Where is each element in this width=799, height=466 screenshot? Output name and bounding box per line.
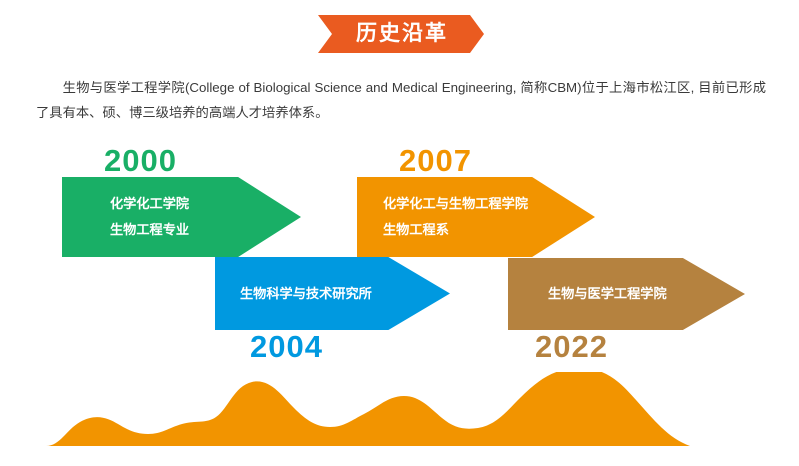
timeline-milestone-2022: 生物与医学工程学院 (508, 258, 745, 330)
milestone-line: 化学化工与生物工程学院 (383, 191, 528, 217)
milestone-line: 生物科学与技术研究所 (240, 281, 372, 307)
timeline-milestone-2007: 化学化工与生物工程学院 生物工程系 (357, 177, 595, 257)
milestone-line: 生物工程专业 (110, 217, 189, 243)
milestone-labels-2007: 化学化工与生物工程学院 生物工程系 (383, 177, 528, 257)
timeline-milestone-2004: 生物科学与技术研究所 (215, 257, 450, 330)
milestone-labels-2022: 生物与医学工程学院 (548, 258, 667, 330)
intro-paragraph: 生物与医学工程学院(College of Biological Science … (36, 75, 766, 125)
milestone-year-2007: 2007 (399, 144, 472, 178)
milestone-line: 化学化工学院 (110, 191, 189, 217)
milestone-year-2000: 2000 (104, 144, 177, 178)
milestone-line: 生物工程系 (383, 217, 528, 243)
milestone-line: 生物与医学工程学院 (548, 281, 667, 307)
decorative-wave (0, 372, 799, 452)
milestone-year-2022: 2022 (535, 330, 608, 364)
section-banner: 历史沿革 (318, 15, 484, 53)
page-title: 历史沿革 (318, 15, 484, 53)
milestone-labels-2000: 化学化工学院 生物工程专业 (110, 177, 189, 257)
history-timeline-page: 历史沿革 生物与医学工程学院(College of Biological Sci… (0, 0, 799, 466)
milestone-labels-2004: 生物科学与技术研究所 (240, 257, 372, 330)
milestone-year-2004: 2004 (250, 330, 323, 364)
timeline-milestone-2000: 化学化工学院 生物工程专业 (62, 177, 301, 257)
